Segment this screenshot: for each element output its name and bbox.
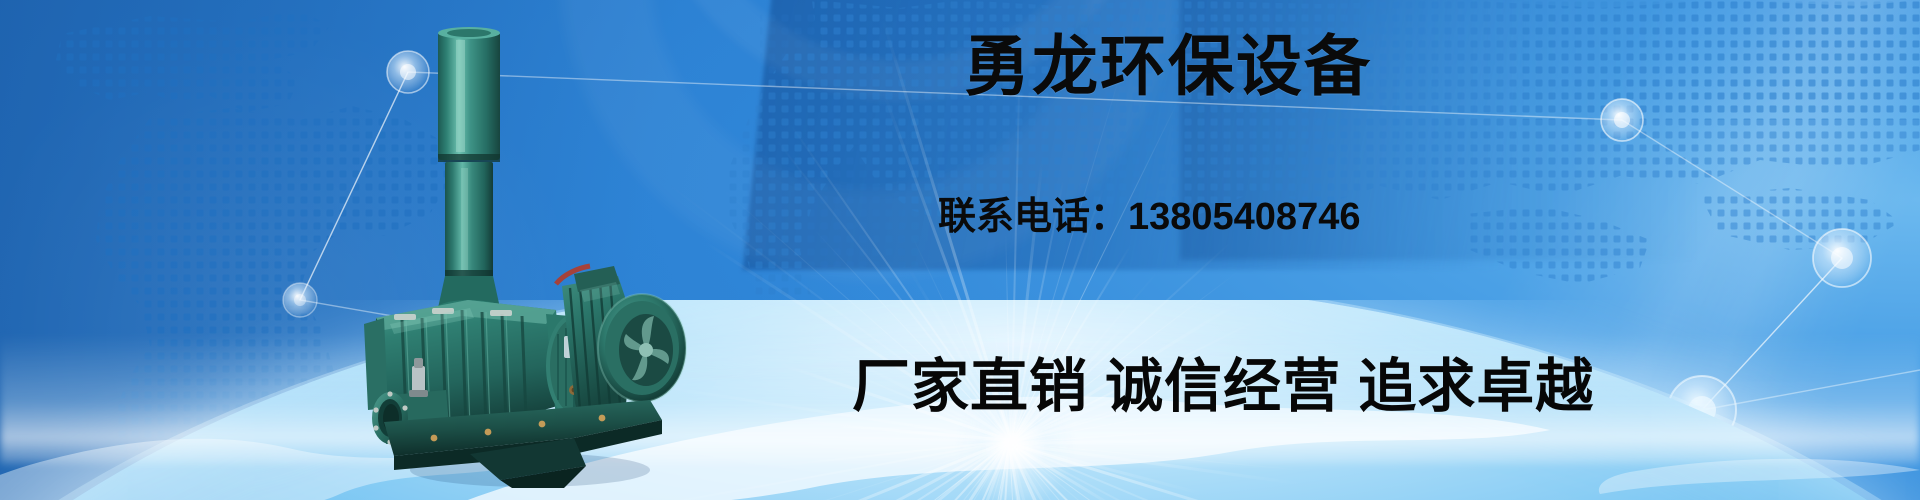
company-title: 勇龙环保设备 (964, 33, 1372, 99)
product-image-roots-blower (350, 18, 690, 488)
contact-phone-text: 联系电话：13805408746 (938, 198, 1360, 236)
slogan-text: 厂家直销 诚信经营 追求卓越 (852, 358, 1594, 416)
promotional-banner: 勇龙环保设备 联系电话：13805408746 厂家直销 诚信经营 追求卓越 (0, 0, 1920, 500)
